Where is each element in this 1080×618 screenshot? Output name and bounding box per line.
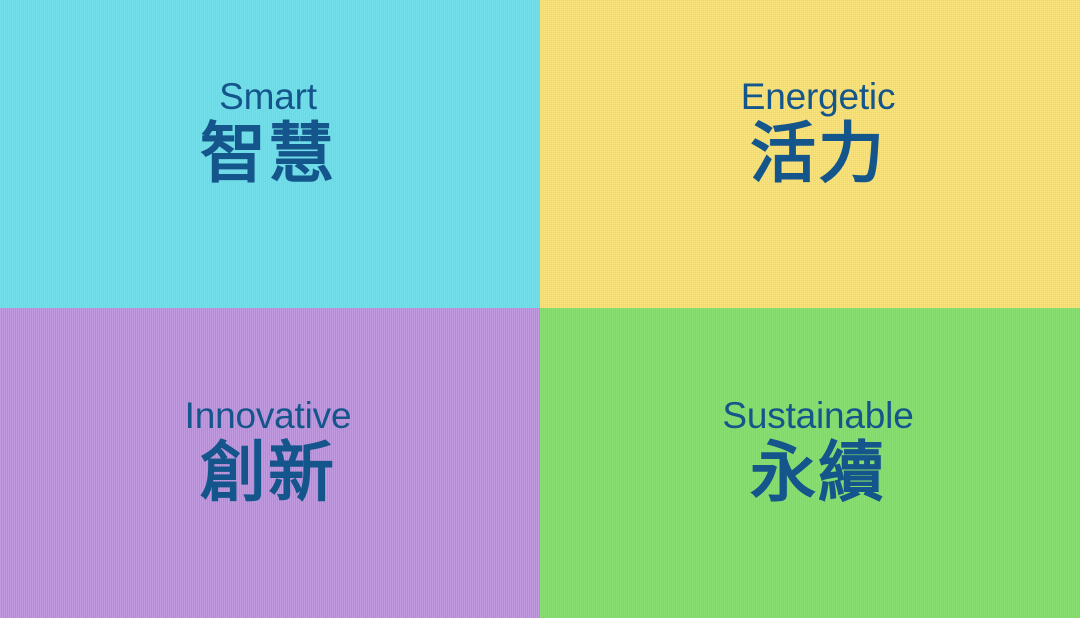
quadrant-innovative-label-en: Innovative [185, 397, 352, 434]
quadrant-energetic-label-en: Energetic [741, 78, 896, 115]
quadrant-smart-label-cjk: 智慧 [200, 121, 336, 187]
quadrant-sustainable-label-en: Sustainable [722, 397, 913, 434]
quadrant-energetic-text-stack: Energetic 活力 [741, 78, 896, 187]
quadrant-smart-text-stack: Smart 智慧 [200, 78, 336, 187]
quadrant-smart[interactable]: Smart 智慧 [0, 0, 540, 308]
quadrant-sustainable-label-cjk: 永續 [750, 440, 886, 506]
values-quadrant-board: Smart 智慧 Energetic 活力 Innovative 創新 Sust… [0, 0, 1080, 618]
quadrant-innovative[interactable]: Innovative 創新 [0, 308, 540, 618]
quadrant-energetic-label-cjk: 活力 [750, 121, 886, 187]
quadrant-sustainable[interactable]: Sustainable 永續 [540, 308, 1080, 618]
quadrant-innovative-label-cjk: 創新 [200, 440, 336, 506]
quadrant-smart-label-en: Smart [219, 78, 317, 115]
quadrant-innovative-text-stack: Innovative 創新 [185, 397, 352, 506]
quadrant-sustainable-text-stack: Sustainable 永續 [722, 397, 913, 506]
quadrant-energetic[interactable]: Energetic 活力 [540, 0, 1080, 308]
